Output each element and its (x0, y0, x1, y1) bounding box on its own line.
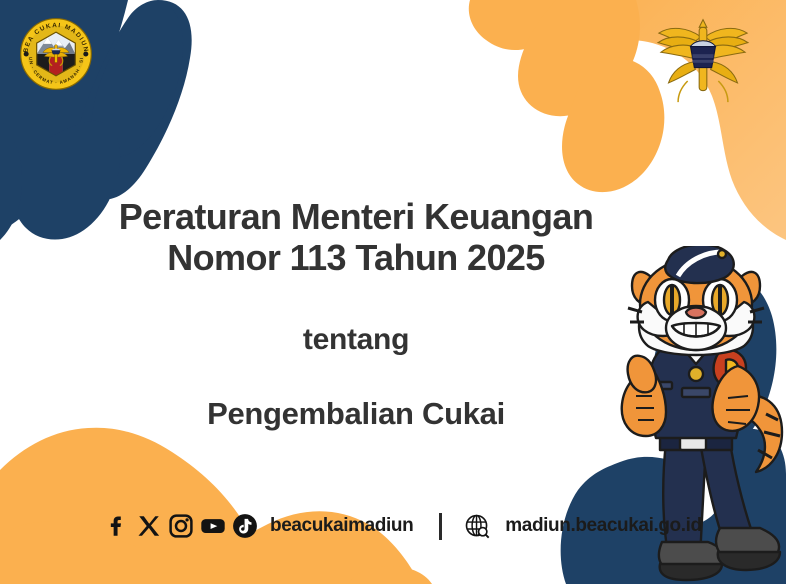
footer-bar: beacukaimadiun madiun.beacukai.go.id (104, 508, 702, 544)
facebook-icon[interactable] (104, 513, 130, 539)
x-twitter-icon[interactable] (136, 513, 162, 539)
poster-canvas: BEA CUKAI MADIUN RUKUN · CERMAT · AMANAH… (0, 0, 786, 584)
kementerian-keuangan-logo (644, 12, 762, 104)
youtube-icon[interactable] (200, 513, 226, 539)
instagram-icon[interactable] (168, 513, 194, 539)
website-url-text: madiun.beacukai.go.id (505, 515, 701, 537)
social-handle-text: beacukaimadiun (270, 515, 413, 537)
globe-search-icon[interactable] (464, 513, 491, 540)
headline-line-1: Peraturan Menteri Keuangan (0, 196, 712, 237)
tiktok-icon[interactable] (232, 513, 258, 539)
bea-cukai-madiun-logo: BEA CUKAI MADIUN RUKUN · CERMAT · AMANAH… (14, 12, 98, 96)
footer-divider (439, 513, 442, 540)
